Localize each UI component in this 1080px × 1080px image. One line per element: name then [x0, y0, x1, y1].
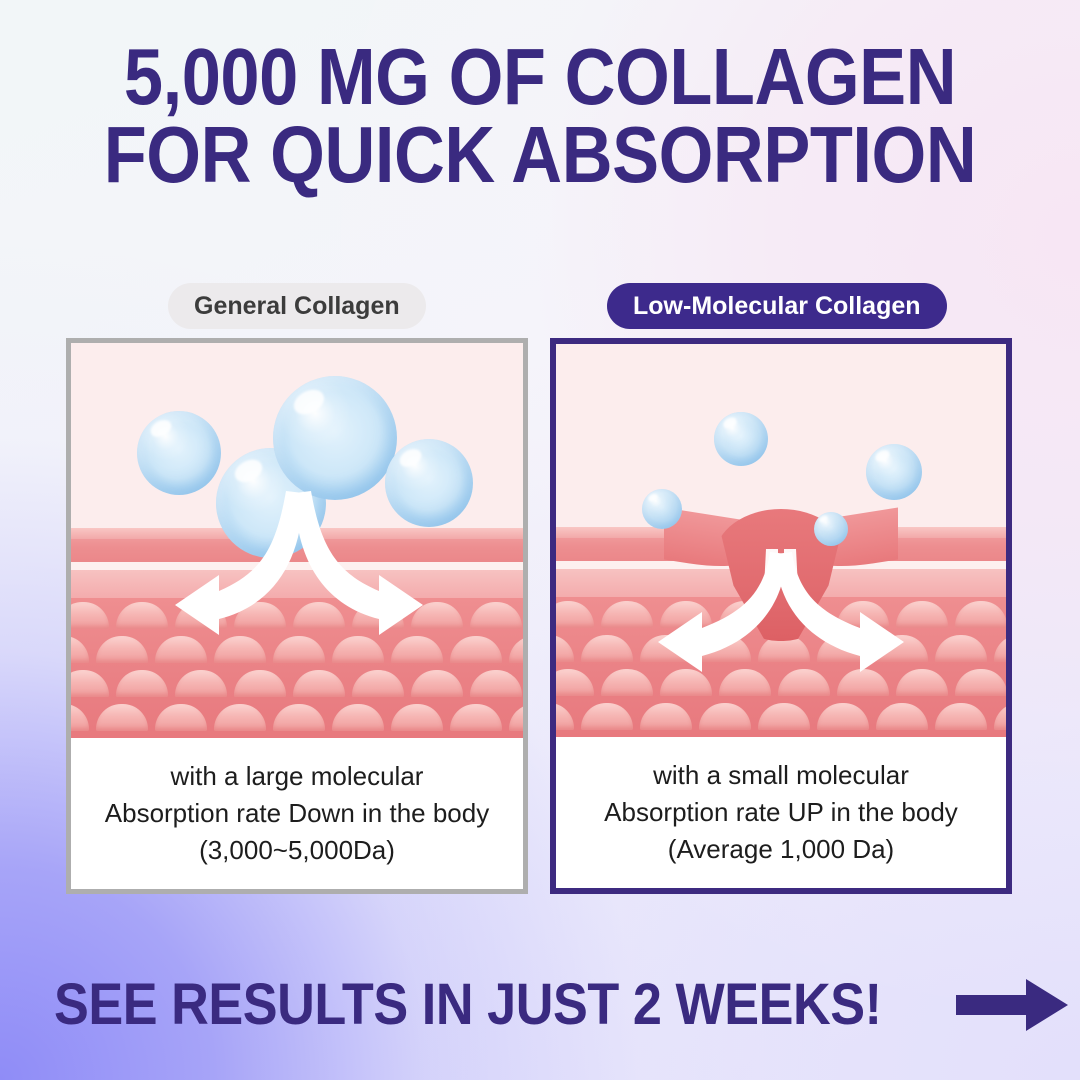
skin-cell — [470, 602, 522, 629]
skin-cell — [175, 602, 227, 629]
cell-row — [71, 704, 523, 734]
skin-cell — [214, 704, 266, 731]
caption-line-1: with a small molecular — [653, 760, 909, 791]
skin-cell — [994, 635, 1006, 662]
skin-cell — [293, 670, 345, 697]
skin-cell — [955, 669, 1006, 696]
label-low-molecular-collagen-text: Low-Molecular Collagen — [633, 292, 921, 321]
skin-cell — [601, 669, 653, 696]
label-low-molecular-collagen: Low-Molecular Collagen — [607, 283, 947, 329]
skin-cell — [699, 703, 751, 730]
skin-cell — [935, 635, 987, 662]
infographic-poster: 5,000 MG OF COLLAGEN FOR QUICK ABSORPTIO… — [0, 0, 1080, 1080]
headline-line-2: FOR QUICK ABSORPTION — [65, 116, 1015, 194]
caption-line-1: with a large molecular — [171, 761, 424, 792]
skin-cell — [955, 601, 1006, 628]
skin-cell — [352, 602, 404, 629]
label-general-collagen-text: General Collagen — [194, 292, 400, 321]
collagen-molecule-bubble — [642, 489, 682, 529]
caption-line-2: Absorption rate UP in the body — [604, 797, 958, 828]
skin-cell — [758, 703, 810, 730]
collagen-molecule-bubble — [385, 439, 473, 527]
skin-cell — [699, 635, 751, 662]
skin-cell — [556, 669, 594, 696]
footer-cta-text: SEE RESULTS IN JUST 2 WEEKS! — [54, 971, 882, 1038]
skin-cell — [71, 704, 89, 731]
skin-cell — [896, 669, 948, 696]
skin-cell — [273, 636, 325, 663]
collagen-molecule-bubble — [866, 444, 922, 500]
skin-cell — [556, 601, 594, 628]
skin-cell — [116, 670, 168, 697]
page-title: 5,000 MG OF COLLAGEN FOR QUICK ABSORPTIO… — [65, 38, 1015, 193]
skin-cell — [581, 635, 633, 662]
caption-line-3: (3,000~5,000Da) — [199, 835, 395, 866]
skin-cell — [876, 635, 928, 662]
skin-cell — [411, 602, 463, 629]
skin-cell — [817, 635, 869, 662]
skin-cell — [450, 704, 502, 731]
skin-cell — [640, 703, 692, 730]
skin-cell — [71, 670, 109, 697]
caption-line-3: (Average 1,000 Da) — [668, 834, 894, 865]
skin-cell — [155, 636, 207, 663]
cell-row — [71, 602, 523, 632]
skin-cell — [234, 602, 286, 629]
skin-cell — [155, 704, 207, 731]
skin-cell — [509, 704, 523, 731]
skin-cell — [660, 669, 712, 696]
skin-cell — [817, 703, 869, 730]
collagen-molecule-bubble — [814, 512, 848, 546]
collagen-molecule-bubble — [714, 412, 768, 466]
skin-cell — [581, 703, 633, 730]
skin-cell — [778, 669, 830, 696]
headline-line-1: 5,000 MG OF COLLAGEN — [65, 38, 1015, 116]
skin-cell — [175, 670, 227, 697]
skin-cell — [509, 636, 523, 663]
skin-cell — [994, 703, 1006, 730]
skin-cell — [837, 669, 889, 696]
footer-cta: SEE RESULTS IN JUST 2 WEEKS! — [0, 971, 1080, 1038]
skin-cell — [837, 601, 889, 628]
label-general-collagen: General Collagen — [168, 283, 426, 329]
comparison-card-general: with a large molecular Absorption rate D… — [66, 338, 528, 894]
skin-cell — [234, 670, 286, 697]
skin-cell — [450, 636, 502, 663]
skin-cell — [332, 704, 384, 731]
caption-line-2: Absorption rate Down in the body — [105, 798, 489, 829]
comparison-card-low-molecular: with a small molecular Absorption rate U… — [550, 338, 1012, 894]
skin-cell — [391, 636, 443, 663]
skin-cell — [352, 670, 404, 697]
skin-cell — [273, 704, 325, 731]
skin-cell — [660, 601, 712, 628]
skin-cell — [96, 636, 148, 663]
skin-cell — [116, 602, 168, 629]
skin-cell — [293, 602, 345, 629]
collagen-molecule-bubble — [273, 376, 397, 500]
skin-cell — [411, 670, 463, 697]
small-molecule-skin-diagram — [556, 344, 1006, 737]
dermis-layer — [71, 598, 523, 738]
cell-row — [71, 670, 523, 700]
skin-cell — [214, 636, 266, 663]
skin-cell — [601, 601, 653, 628]
skin-cell — [96, 704, 148, 731]
cell-row — [71, 636, 523, 666]
skin-cell — [640, 635, 692, 662]
collagen-molecule-bubble — [137, 411, 221, 495]
cell-row — [556, 669, 1006, 699]
arrow-right-icon — [954, 976, 1072, 1034]
skin-cell — [935, 703, 987, 730]
skin-cell — [391, 704, 443, 731]
skin-cell — [556, 703, 574, 730]
skin-cell — [896, 601, 948, 628]
skin-cell — [470, 670, 522, 697]
large-molecule-skin-diagram — [71, 343, 523, 738]
epidermis-band — [71, 570, 523, 598]
caption-low-molecular-collagen: with a small molecular Absorption rate U… — [556, 737, 1006, 888]
skin-cell — [332, 636, 384, 663]
skin-cell — [71, 602, 109, 629]
skin-cell — [71, 636, 89, 663]
skin-cell — [876, 703, 928, 730]
epidermis-gap — [71, 562, 523, 570]
caption-general-collagen: with a large molecular Absorption rate D… — [71, 738, 523, 889]
cell-row — [556, 703, 1006, 733]
skin-cell — [556, 635, 574, 662]
skin-cell — [719, 669, 771, 696]
